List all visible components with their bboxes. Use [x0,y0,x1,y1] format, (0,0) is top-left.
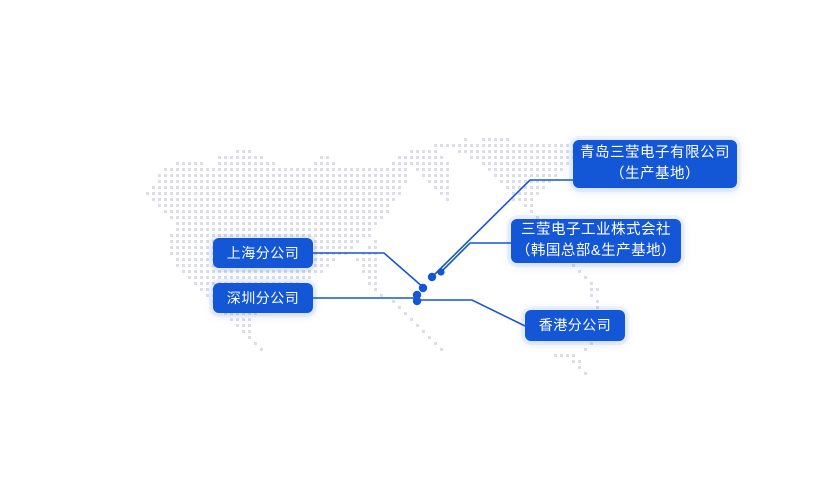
world-map-infographic: 青岛三莹电子有限公司 （生产基地） 三莹电子工业株式会社 （韩国总部&生产基地）… [0,0,824,480]
marker-dot-korea[interactable] [437,268,444,275]
label-korea-line1: 三莹电子工业株式会社 [521,220,671,241]
marker-dot-hongkong[interactable] [413,297,421,305]
label-hongkong-line1: 香港分公司 [539,315,612,335]
label-shenzhen-line1: 深圳分公司 [227,288,300,308]
label-qingdao-line2: （生产基地） [610,164,700,185]
label-hongkong-branch[interactable]: 香港分公司 [525,310,625,341]
label-korea-headquarters[interactable]: 三莹电子工业株式会社 （韩国总部&生产基地） [511,219,681,263]
marker-dot-qingdao[interactable] [428,273,436,281]
marker-dot-shanghai[interactable] [419,284,427,292]
label-shenzhen-branch[interactable]: 深圳分公司 [213,283,313,313]
label-qingdao-line1: 青岛三莹电子有限公司 [580,143,730,164]
location-markers [0,0,824,480]
label-shanghai-branch[interactable]: 上海分公司 [213,238,313,268]
label-qingdao[interactable]: 青岛三莹电子有限公司 （生产基地） [573,140,737,188]
label-korea-line2: （韩国总部&生产基地） [516,241,676,262]
label-shanghai-line1: 上海分公司 [227,243,300,263]
